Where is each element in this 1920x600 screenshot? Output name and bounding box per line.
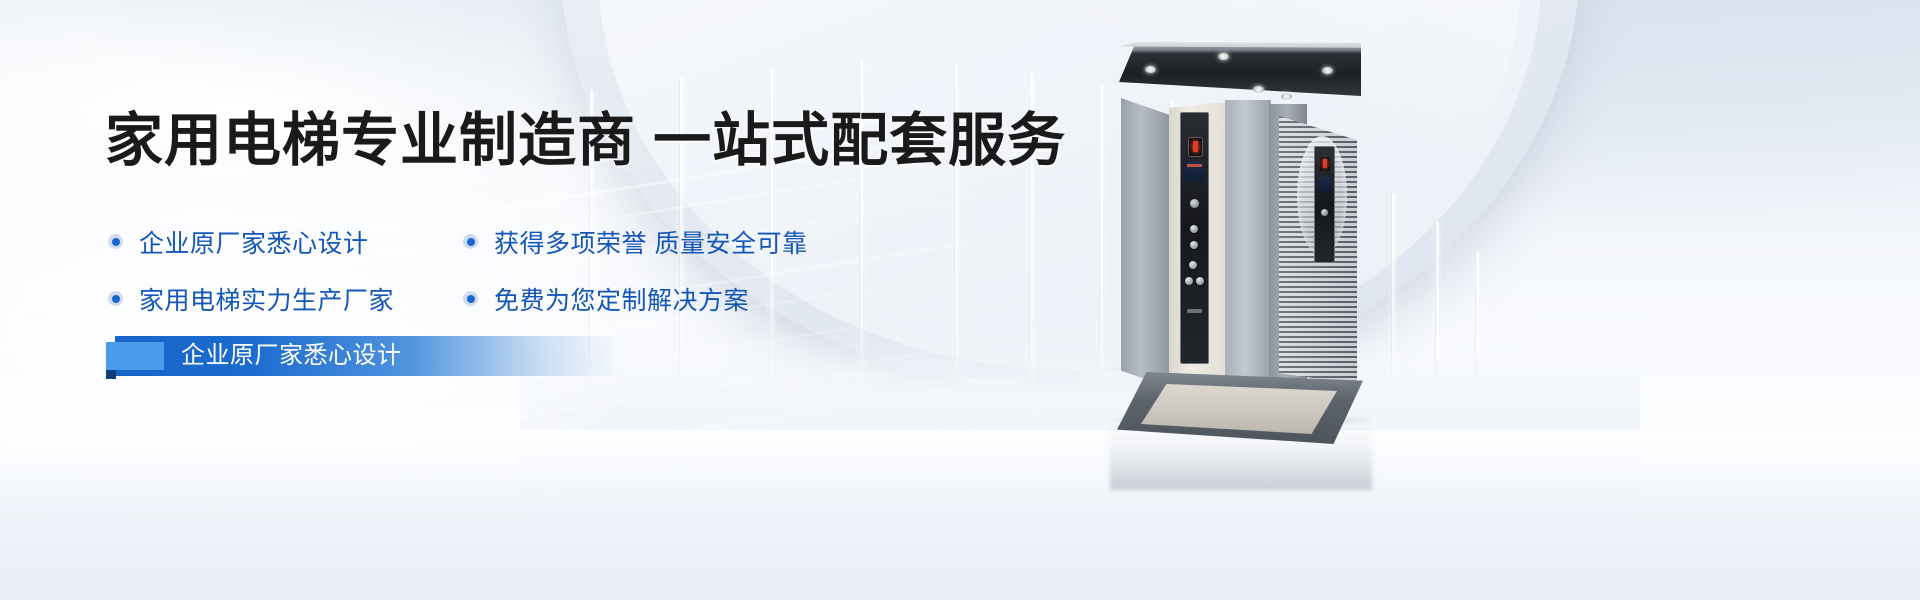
control-panel-secondary	[1314, 146, 1335, 263]
ribbon-tab-icon	[106, 342, 164, 370]
bullet-dot-icon	[463, 291, 478, 306]
feature-label: 企业原厂家悉心设计	[139, 224, 369, 260]
ceiling-light-icon	[1218, 53, 1229, 60]
highlight-ribbon: 企业原厂家悉心设计	[115, 336, 620, 376]
emergency-button-icon	[1190, 199, 1199, 208]
ribbon-label: 企业原厂家悉心设计	[181, 336, 402, 376]
list-item: 家用电梯实力生产厂家	[108, 281, 463, 317]
bullet-dot-icon	[108, 291, 123, 306]
info-screen	[1185, 161, 1204, 183]
door-close-button-icon	[1196, 277, 1204, 285]
info-screen-secondary	[1318, 177, 1331, 193]
promo-banner: 家用电梯专业制造商 一站式配套服务 企业原厂家悉心设计 获得多项荣誉 质量安全可…	[0, 0, 1920, 600]
elevator-cabin-image	[1119, 42, 1361, 424]
list-item: 免费为您定制解决方案	[463, 281, 749, 317]
list-item: 获得多项荣誉 质量安全可靠	[463, 224, 807, 260]
feature-label: 家用电梯实力生产厂家	[139, 281, 394, 317]
floor-button-icon	[1189, 261, 1197, 269]
cabin-interior	[1121, 88, 1359, 388]
bullet-dot-icon	[108, 234, 123, 249]
banner-copy: 家用电梯专业制造商 一站式配套服务 企业原厂家悉心设计 获得多项荣誉 质量安全可…	[0, 0, 1100, 600]
brand-logo-icon	[1187, 309, 1202, 313]
ceiling-light-icon	[1145, 66, 1156, 73]
cabin-wall-middle	[1225, 100, 1271, 392]
control-panel-main	[1180, 112, 1209, 364]
ceiling-light-icon	[1322, 67, 1333, 74]
feature-label: 获得多项荣誉 质量安全可靠	[494, 224, 807, 260]
feature-label: 免费为您定制解决方案	[494, 281, 749, 317]
cabin-wall-left	[1121, 98, 1171, 388]
feature-list: 企业原厂家悉心设计 获得多项荣誉 质量安全可靠 家用电梯实力生产厂家 免费为您定…	[108, 213, 1028, 327]
emergency-button-secondary-icon	[1321, 209, 1328, 216]
feature-row: 企业原厂家悉心设计 获得多项荣誉 质量安全可靠	[108, 213, 1028, 270]
floor-indicator-display-secondary	[1320, 157, 1330, 171]
floor-button-icon	[1190, 225, 1198, 233]
list-item: 企业原厂家悉心设计	[108, 224, 463, 260]
door-open-button-icon	[1185, 277, 1193, 285]
bullet-dot-icon	[463, 234, 478, 249]
feature-row: 家用电梯实力生产厂家 免费为您定制解决方案	[108, 270, 1028, 327]
floor-button-icon	[1190, 241, 1198, 249]
floor-indicator-display	[1188, 137, 1203, 157]
page-title: 家用电梯专业制造商 一站式配套服务	[105, 112, 1066, 170]
